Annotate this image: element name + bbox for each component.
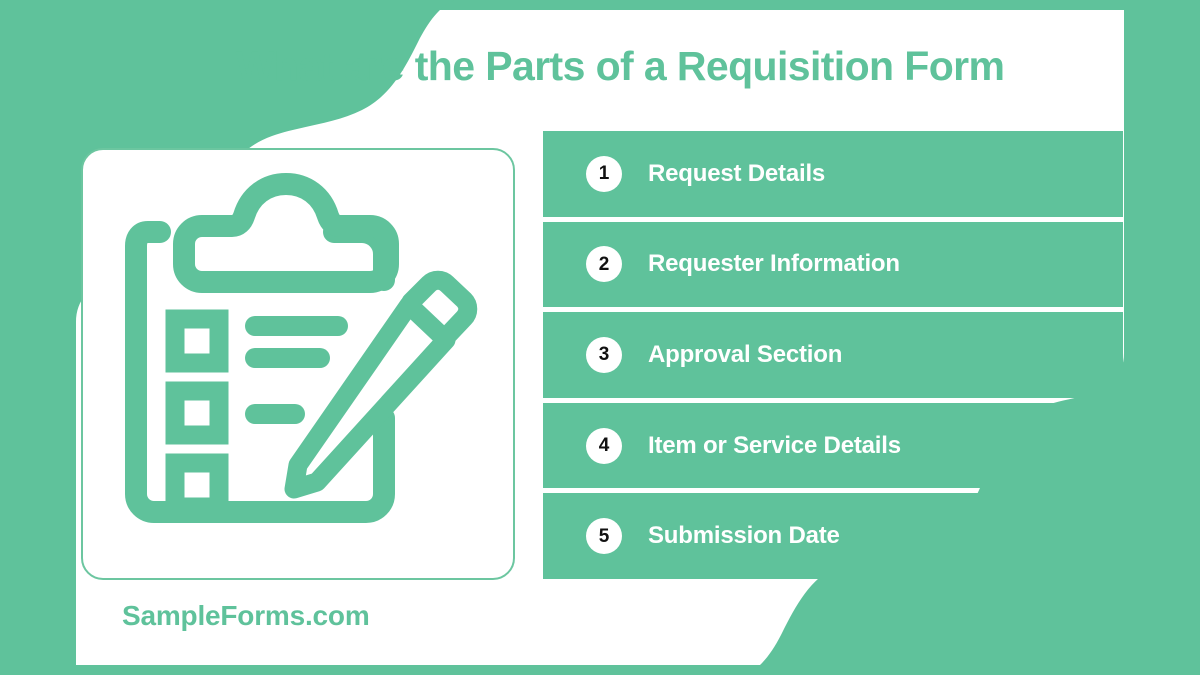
- list-item[interactable]: 1 Request Details: [543, 131, 1123, 217]
- clipboard-with-pencil-icon: [98, 164, 498, 564]
- list-item[interactable]: 5 Submission Date: [543, 493, 1123, 579]
- parts-list: 1 Request Details 2 Requester Informatio…: [543, 131, 1123, 579]
- list-item-number: 3: [586, 337, 622, 373]
- list-item-number: 2: [586, 246, 622, 282]
- list-item-number: 5: [586, 518, 622, 554]
- illustration-card: [81, 148, 515, 580]
- list-item-label: Requester Information: [648, 250, 900, 278]
- list-item-label: Request Details: [648, 160, 825, 188]
- list-item-number: 4: [586, 428, 622, 464]
- infographic-canvas: What are the Parts of a Requisition Form: [0, 0, 1200, 675]
- list-item-label: Approval Section: [648, 341, 842, 369]
- list-item[interactable]: 2 Requester Information: [543, 222, 1123, 308]
- list-item-label: Submission Date: [648, 522, 840, 550]
- page-title: What are the Parts of a Requisition Form: [140, 44, 1100, 89]
- brand-watermark: SampleForms.com: [122, 600, 370, 632]
- list-item-number: 1: [586, 156, 622, 192]
- list-item[interactable]: 3 Approval Section: [543, 312, 1123, 398]
- list-item-label: Item or Service Details: [648, 432, 901, 460]
- list-item[interactable]: 4 Item or Service Details: [543, 403, 1123, 489]
